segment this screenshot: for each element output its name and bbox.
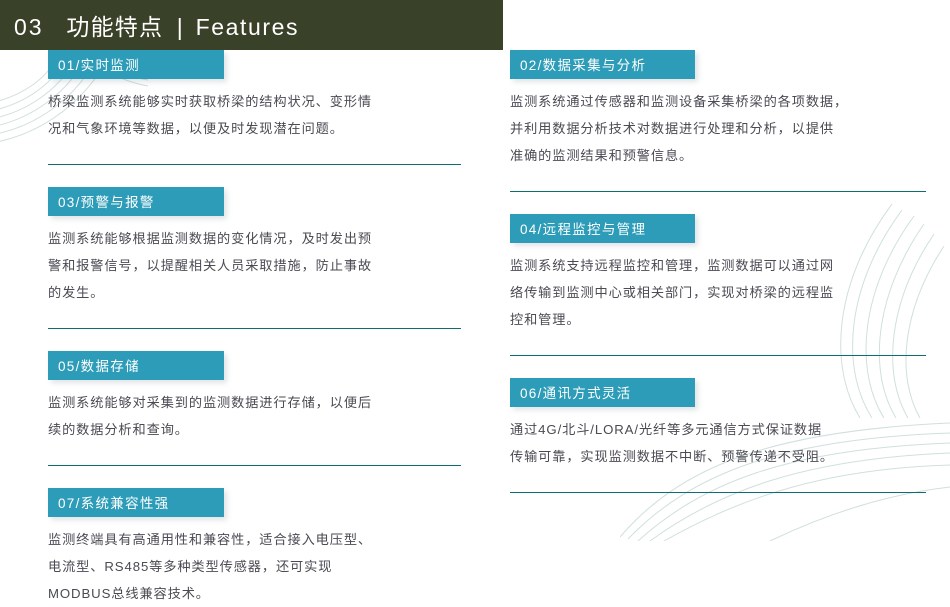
- feature-body-07: 监测终端具有高通用性和兼容性，适合接入电压型、 电流型、RS485等多种类型传感…: [48, 526, 461, 607]
- card-divider-right-3: [510, 492, 926, 493]
- feature-card-01: 01/实时监测 桥梁监测系统能够实时获取桥梁的结构状况、变形情 况和气象环境等数…: [48, 50, 461, 142]
- feature-badge-05: 05/数据存储: [48, 351, 224, 380]
- section-number: 03: [14, 14, 44, 40]
- spacer: [48, 466, 461, 488]
- feature-card-06: 06/通讯方式灵活 通过4G/北斗/LORA/光纤等多元通信方式保证数据 传输可…: [510, 378, 926, 470]
- spacer: [510, 169, 926, 191]
- feature-badge-03: 03/预警与报警: [48, 187, 224, 216]
- spacer: [48, 165, 461, 187]
- feature-badge-02: 02/数据采集与分析: [510, 50, 695, 79]
- feature-body-05: 监测系统能够对采集到的监测数据进行存储，以便后 续的数据分析和查询。: [48, 389, 461, 443]
- features-column-left: 01/实时监测 桥梁监测系统能够实时获取桥梁的结构状况、变形情 况和气象环境等数…: [48, 50, 461, 607]
- feature-badge-07: 07/系统兼容性强: [48, 488, 224, 517]
- feature-body-03: 监测系统能够根据监测数据的变化情况，及时发出预 警和报警信号，以提醒相关人员采取…: [48, 225, 461, 306]
- feature-body-04: 监测系统支持远程监控和管理，监测数据可以通过网 络传输到监测中心或相关部门，实现…: [510, 252, 926, 333]
- feature-body-06: 通过4G/北斗/LORA/光纤等多元通信方式保证数据 传输可靠，实现监测数据不中…: [510, 416, 926, 470]
- spacer: [510, 470, 926, 492]
- feature-badge-01: 01/实时监测: [48, 50, 224, 79]
- spacer: [48, 443, 461, 465]
- feature-badge-06: 06/通讯方式灵活: [510, 378, 695, 407]
- spacer: [48, 306, 461, 328]
- section-title-cn: 功能特点: [66, 14, 163, 40]
- spacer: [48, 142, 461, 164]
- features-column-right: 02/数据采集与分析 监测系统通过传感器和监测设备采集桥梁的各项数据， 并利用数…: [510, 50, 926, 493]
- feature-card-03: 03/预警与报警 监测系统能够根据监测数据的变化情况，及时发出预 警和报警信号，…: [48, 187, 461, 306]
- title-separator: |: [177, 14, 184, 40]
- feature-body-02: 监测系统通过传感器和监测设备采集桥梁的各项数据， 并利用数据分析技术对数据进行处…: [510, 88, 926, 169]
- feature-card-02: 02/数据采集与分析 监测系统通过传感器和监测设备采集桥梁的各项数据， 并利用数…: [510, 50, 926, 169]
- page-title: 03 功能特点 | Features: [0, 8, 299, 42]
- features-columns: 01/实时监测 桥梁监测系统能够实时获取桥梁的结构状况、变形情 况和气象环境等数…: [0, 50, 950, 535]
- feature-card-04: 04/远程监控与管理 监测系统支持远程监控和管理，监测数据可以通过网 络传输到监…: [510, 214, 926, 333]
- feature-body-01: 桥梁监测系统能够实时获取桥梁的结构状况、变形情 况和气象环境等数据，以便及时发现…: [48, 88, 461, 142]
- spacer: [510, 356, 926, 378]
- feature-card-07: 07/系统兼容性强 监测终端具有高通用性和兼容性，适合接入电压型、 电流型、RS…: [48, 488, 461, 607]
- spacer: [48, 329, 461, 351]
- spacer: [510, 192, 926, 214]
- feature-badge-04: 04/远程监控与管理: [510, 214, 695, 243]
- spacer: [510, 333, 926, 355]
- section-title-en: Features: [196, 14, 300, 40]
- feature-card-05: 05/数据存储 监测系统能够对采集到的监测数据进行存储，以便后 续的数据分析和查…: [48, 351, 461, 443]
- section-header-bar: 03 功能特点 | Features: [0, 0, 503, 50]
